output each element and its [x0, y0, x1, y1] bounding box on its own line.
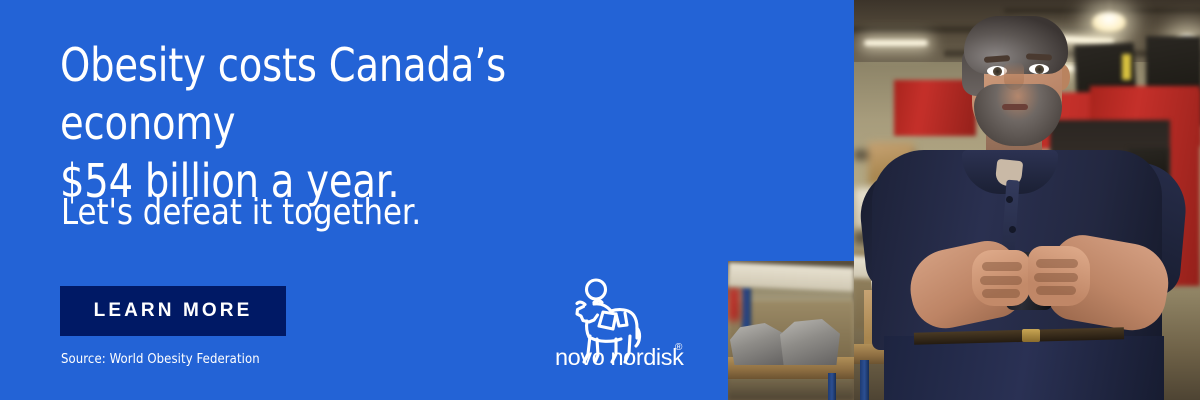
right-hand: [1028, 246, 1090, 306]
obesity-awareness-banner: Obesity costs Canada’s economy $54 billi…: [0, 0, 1200, 400]
beard: [974, 84, 1062, 146]
trousers: [884, 336, 1164, 400]
left-hand: [972, 250, 1030, 306]
source-note: Source: World Obesity Federation: [61, 352, 260, 367]
photo-panel-lower-extension: [728, 261, 854, 400]
eye: [1029, 64, 1049, 74]
learn-more-button[interactable]: LEARN MORE: [60, 286, 286, 336]
belt-buckle: [1022, 329, 1040, 342]
eyebrow: [1026, 53, 1052, 60]
photo-subject-man: [854, 0, 1200, 400]
mouth: [1002, 104, 1028, 110]
photo-panel: [854, 0, 1200, 400]
shirt-button: [1006, 196, 1013, 203]
headline: Obesity costs Canada’s economy $54 billi…: [60, 36, 655, 210]
novo-nordisk-logo: novo nordisk ®: [553, 276, 691, 372]
shirt-button: [1009, 226, 1016, 233]
bench-leg: [828, 373, 836, 400]
subheadline: Let's defeat it together.: [61, 190, 421, 236]
registered-trademark-icon: ®: [675, 342, 683, 353]
banner-content: Obesity costs Canada’s economy $54 billi…: [0, 0, 720, 400]
red-machine-edge: [728, 287, 740, 321]
logo-wordmark: novo nordisk: [555, 344, 684, 370]
